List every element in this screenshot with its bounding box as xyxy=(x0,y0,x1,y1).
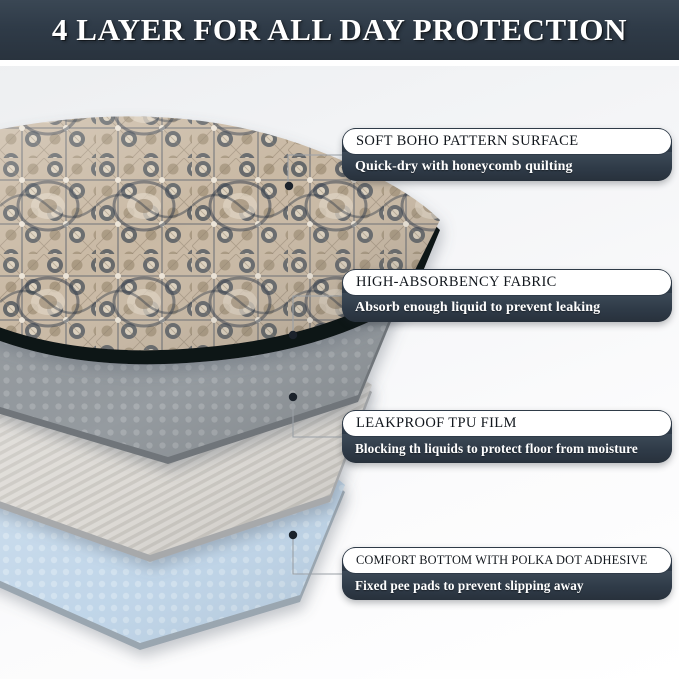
callout-title-2: HIGH-ABSORBENCY FABRIC xyxy=(342,269,672,296)
callout-label-high-absorbency-fabric[interactable]: HIGH-ABSORBENCY FABRIC Absorb enough liq… xyxy=(342,269,672,322)
callout-title-text-1: SOFT BOHO PATTERN SURFACE xyxy=(356,133,578,150)
callout-title-text-3: LEAKPROOF TPU FILM xyxy=(356,415,517,432)
callout-title-4: COMFORT BOTTOM WITH POLKA DOT ADHESIVE xyxy=(342,547,672,574)
callout-label-soft-boho-pattern-surface[interactable]: SOFT BOHO PATTERN SURFACE Quick-dry with… xyxy=(342,128,672,181)
callout-subtitle-text-4: Fixed pee pads to prevent slipping away xyxy=(355,578,584,594)
callout-label-leakproof-tpu-film[interactable]: LEAKPROOF TPU FILM Blocking th liquids t… xyxy=(342,410,672,463)
header-underline xyxy=(0,60,679,66)
page-title: 4 LAYER FOR ALL DAY PROTECTION xyxy=(52,12,627,48)
callout-label-comfort-bottom[interactable]: COMFORT BOTTOM WITH POLKA DOT ADHESIVE F… xyxy=(342,547,672,600)
header-banner: 4 LAYER FOR ALL DAY PROTECTION xyxy=(0,0,679,60)
callout-title-text-4: COMFORT BOTTOM WITH POLKA DOT ADHESIVE xyxy=(356,553,647,568)
callout-subtitle-1: Quick-dry with honeycomb quilting xyxy=(342,152,672,181)
callout-title-3: LEAKPROOF TPU FILM xyxy=(342,410,672,437)
infographic-canvas: 4 LAYER FOR ALL DAY PROTECTION xyxy=(0,0,679,679)
callout-subtitle-text-2: Absorb enough liquid to prevent leaking xyxy=(355,300,600,316)
callout-title-1: SOFT BOHO PATTERN SURFACE xyxy=(342,128,672,155)
callout-subtitle-4: Fixed pee pads to prevent slipping away xyxy=(342,571,672,600)
callout-subtitle-text-1: Quick-dry with honeycomb quilting xyxy=(355,159,573,175)
callout-subtitle-text-3: Blocking th liquids to protect floor fro… xyxy=(355,441,638,457)
callout-title-text-2: HIGH-ABSORBENCY FABRIC xyxy=(356,274,557,291)
callout-subtitle-3: Blocking th liquids to protect floor fro… xyxy=(342,434,672,463)
callout-subtitle-2: Absorb enough liquid to prevent leaking xyxy=(342,293,672,322)
